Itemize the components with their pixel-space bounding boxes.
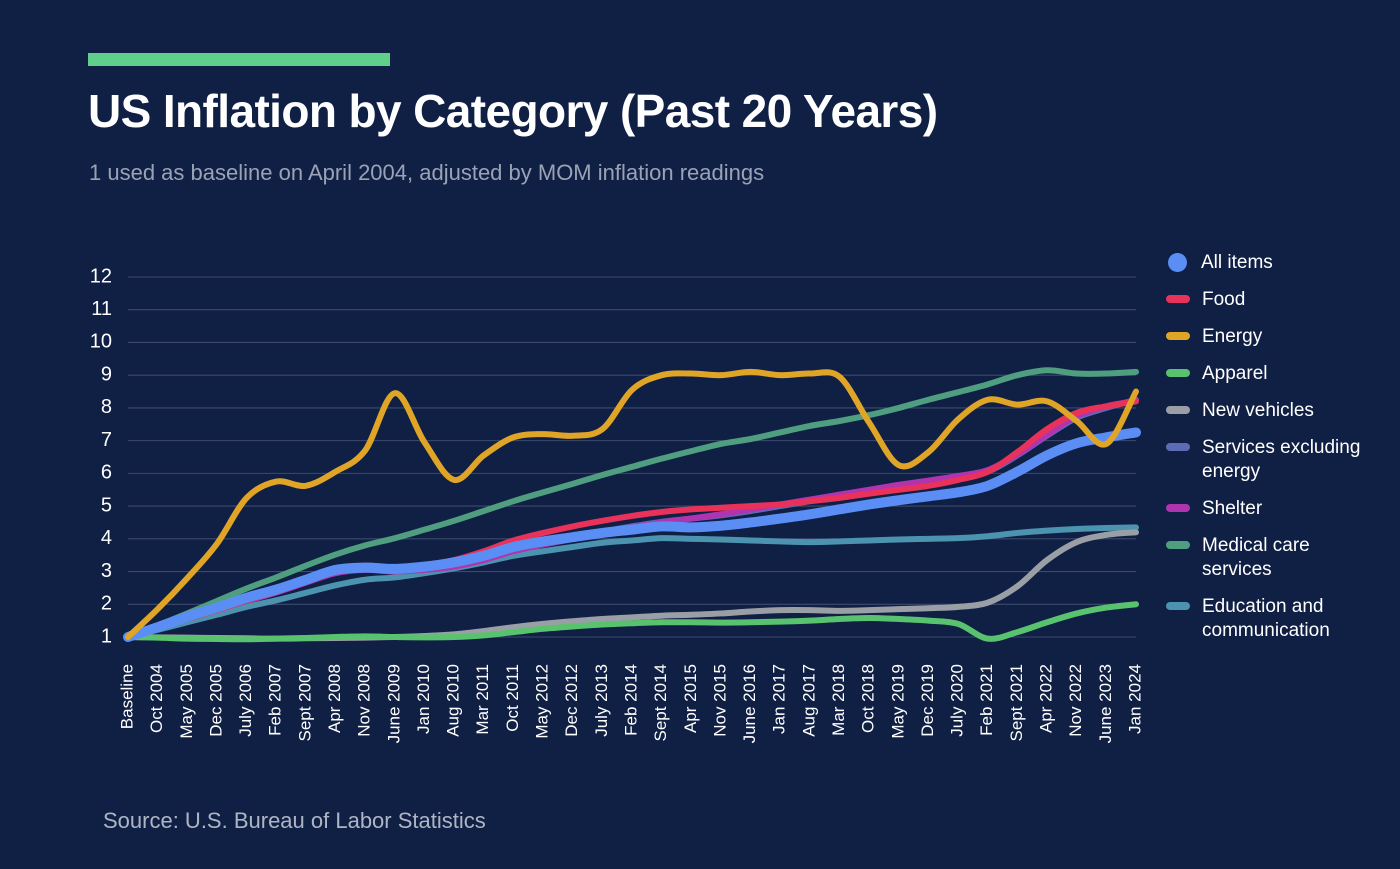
- legend-item[interactable]: Food: [1166, 288, 1396, 312]
- x-axis-tick-label: Aug 2017: [799, 664, 818, 737]
- series-line-apparel: [128, 604, 1136, 639]
- x-axis-tick-label: May 2012: [533, 664, 552, 739]
- gridlines: [128, 277, 1136, 637]
- y-axis-tick-label: 3: [101, 560, 112, 582]
- chart-page: US Inflation by Category (Past 20 Years)…: [0, 0, 1400, 869]
- y-axis-tick-label: 4: [101, 527, 112, 549]
- x-axis-tick-label: Oct 2011: [503, 664, 522, 732]
- y-axis-tick-label: 1: [101, 625, 112, 647]
- x-axis-tick-labels: BaselineOct 2004May 2005Dec 2005July 200…: [117, 664, 1144, 743]
- source-note: Source: U.S. Bureau of Labor Statistics: [103, 808, 486, 834]
- legend-swatch-icon: [1166, 332, 1190, 340]
- x-axis-tick-label: June 2009: [384, 664, 403, 743]
- legend-item-label: All items: [1201, 251, 1273, 275]
- legend-swatch-icon: [1166, 406, 1190, 414]
- x-axis-tick-label: Aug 2010: [444, 664, 463, 737]
- x-axis-tick-label: Feb 2021: [977, 664, 996, 736]
- x-axis-tick-label: Nov 2022: [1066, 664, 1085, 737]
- x-axis-tick-label: June 2023: [1096, 664, 1115, 743]
- legend-item-label: Apparel: [1202, 362, 1268, 386]
- y-axis-tick-label: 8: [101, 396, 112, 418]
- legend-item[interactable]: Services excluding energy: [1166, 436, 1396, 484]
- x-axis-tick-label: Jan 2024: [1125, 664, 1144, 734]
- x-axis-tick-label: Jan 2017: [770, 664, 789, 734]
- x-axis-tick-label: Dec 2005: [206, 664, 225, 737]
- legend-item[interactable]: Shelter: [1166, 497, 1396, 521]
- legend-item[interactable]: Energy: [1166, 325, 1396, 349]
- legend-item[interactable]: All items: [1166, 251, 1396, 275]
- y-axis-tick-label: 9: [101, 363, 112, 385]
- y-axis-tick-label: 5: [101, 494, 112, 516]
- chart-legend: All itemsFoodEnergyApparelNew vehiclesSe…: [1166, 251, 1396, 656]
- legend-swatch-icon: [1166, 369, 1190, 377]
- x-axis-tick-label: Nov 2008: [355, 664, 374, 737]
- legend-item-label: Shelter: [1202, 497, 1262, 521]
- series-lines: [128, 370, 1136, 639]
- y-axis-tick-label: 11: [91, 298, 112, 320]
- x-axis-tick-label: May 2019: [888, 664, 907, 739]
- legend-item-label: New vehicles: [1202, 399, 1314, 423]
- legend-item-label: Energy: [1202, 325, 1262, 349]
- legend-item-label: Food: [1202, 288, 1245, 312]
- x-axis-tick-label: Jan 2010: [414, 664, 433, 734]
- x-axis-tick-label: Sept 2007: [295, 664, 314, 742]
- x-axis-tick-label: June 2016: [740, 664, 759, 743]
- legend-swatch-icon: [1166, 504, 1190, 512]
- x-axis-tick-label: July 2020: [948, 664, 967, 737]
- x-axis-tick-label: July 2013: [592, 664, 611, 737]
- x-axis-tick-label: Sept 2014: [651, 664, 670, 742]
- x-axis-tick-label: Dec 2012: [562, 664, 581, 737]
- legend-swatch-icon: [1166, 541, 1190, 549]
- legend-item[interactable]: Apparel: [1166, 362, 1396, 386]
- legend-swatch-icon: [1166, 295, 1190, 303]
- x-axis-tick-label: Apr 2008: [325, 664, 344, 733]
- y-axis-tick-label: 2: [101, 593, 112, 615]
- x-axis-tick-label: Sept 2021: [1007, 664, 1026, 742]
- x-axis-tick-label: Feb 2007: [266, 664, 285, 736]
- x-axis-tick-label: July 2006: [236, 664, 255, 737]
- x-axis-tick-label: Oct 2018: [859, 664, 878, 733]
- x-axis-tick-label: Nov 2015: [710, 664, 729, 737]
- x-axis-tick-label: Baseline: [117, 664, 136, 729]
- legend-item-label: Education and communication: [1202, 595, 1382, 643]
- legend-swatch-icon: [1166, 443, 1190, 451]
- legend-swatch-icon: [1166, 602, 1190, 610]
- legend-item-label: Medical care services: [1202, 534, 1382, 582]
- x-axis-tick-label: Apr 2022: [1037, 664, 1056, 733]
- y-axis-tick-label: 7: [101, 429, 112, 451]
- x-axis-tick-label: Feb 2014: [621, 664, 640, 736]
- legend-item[interactable]: Education and communication: [1166, 595, 1396, 643]
- x-axis-tick-label: Dec 2019: [918, 664, 937, 737]
- x-axis-tick-label: Apr 2015: [681, 664, 700, 733]
- x-axis-tick-label: Mar 2018: [829, 664, 848, 736]
- legend-item[interactable]: New vehicles: [1166, 399, 1396, 423]
- legend-item-label: Services excluding energy: [1202, 436, 1382, 484]
- legend-item[interactable]: Medical care services: [1166, 534, 1396, 582]
- x-axis-tick-label: Oct 2004: [147, 664, 166, 733]
- x-axis-tick-label: Mar 2011: [473, 664, 492, 735]
- y-axis-tick-label: 10: [90, 331, 112, 353]
- y-axis-tick-label: 12: [90, 265, 112, 287]
- y-axis-tick-label: 6: [101, 462, 112, 484]
- legend-swatch-icon: [1168, 253, 1187, 272]
- x-axis-tick-label: May 2005: [177, 664, 196, 739]
- y-axis-tick-labels: 123456789101112: [90, 265, 112, 647]
